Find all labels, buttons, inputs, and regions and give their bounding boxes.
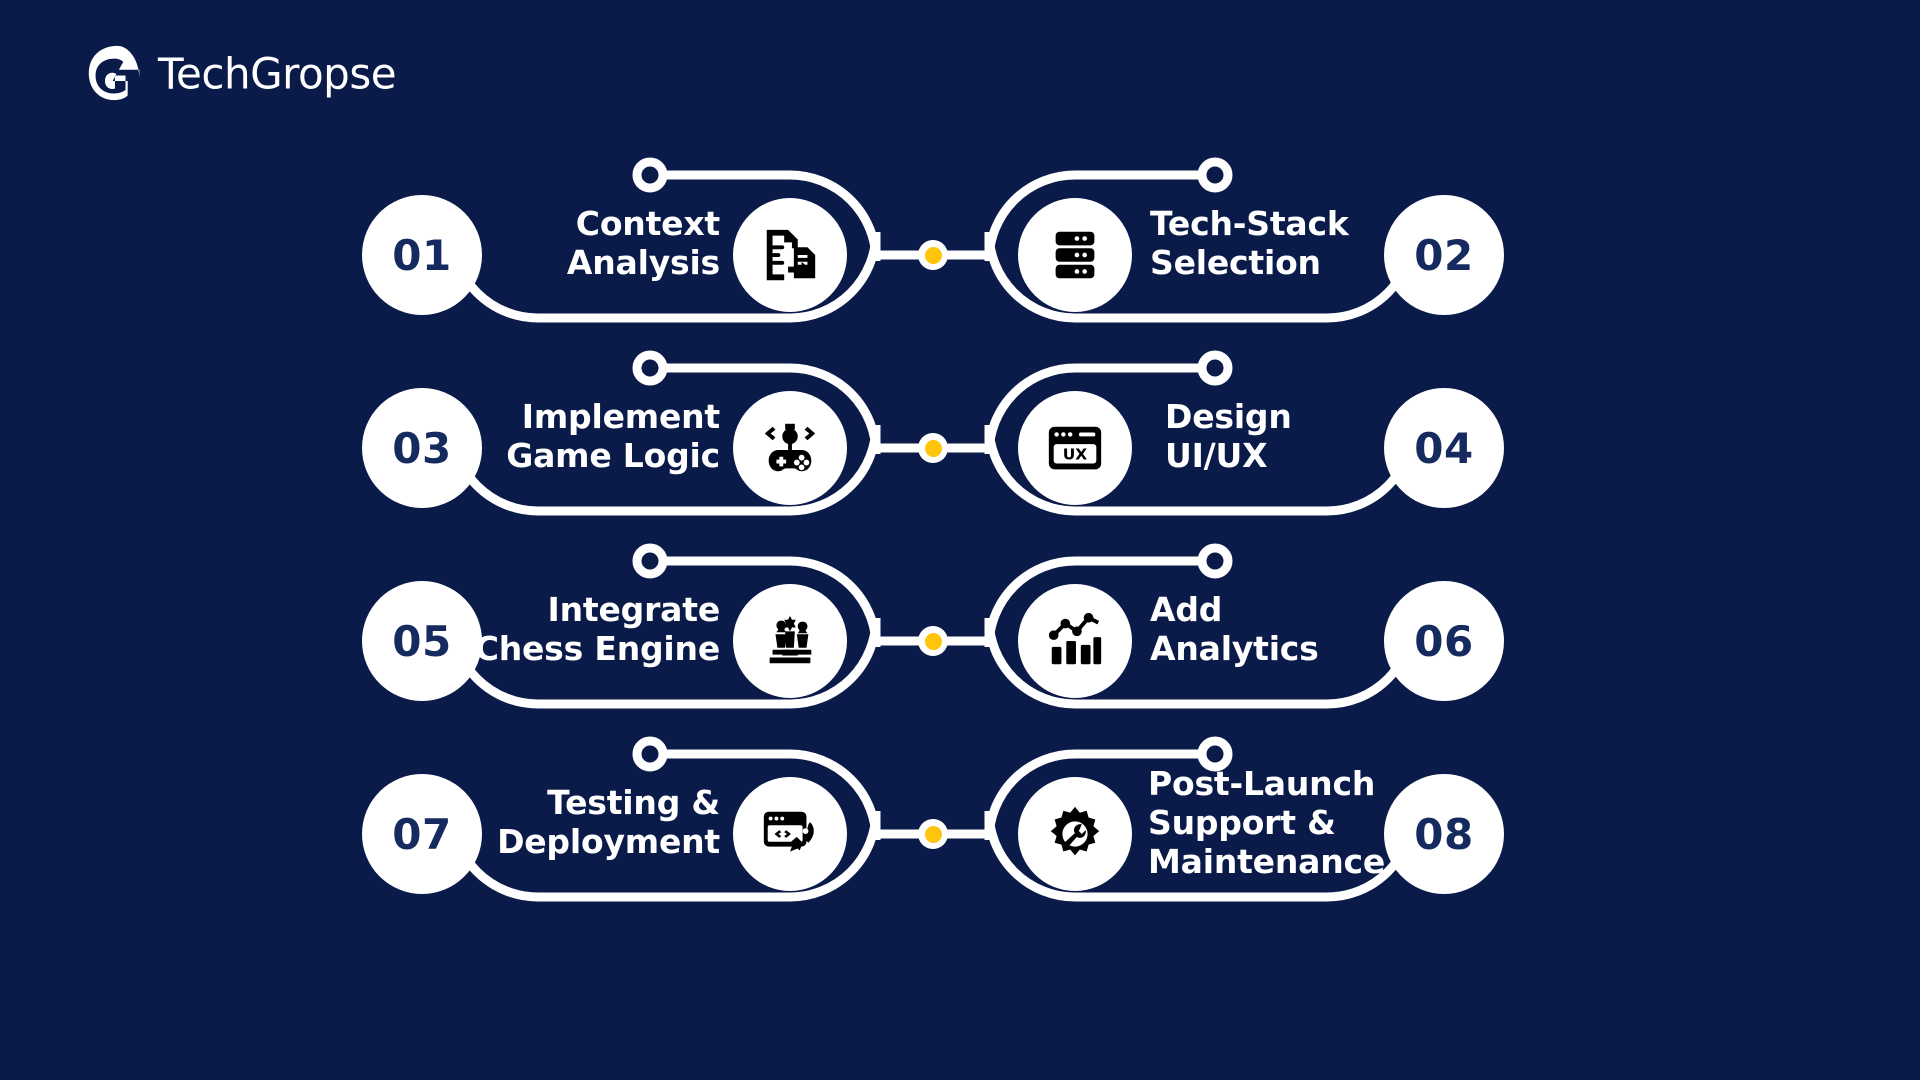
svg-text:UX: UX [1063,446,1088,464]
step-label-07: Testing & Deployment [485,784,720,862]
gear-wrench-icon[interactable] [1018,777,1132,891]
row-connector-dot-2 [918,433,948,463]
browser-ux-icon[interactable]: UX [1018,391,1132,505]
step-number-08[interactable]: 08 [1384,774,1504,894]
step-number-05[interactable]: 05 [362,581,482,701]
step-label-05: Integrate Chess Engine [472,591,720,669]
step-label-02: Tech-Stack Selection [1150,205,1380,283]
step-label-01: Context Analysis [510,205,720,283]
connector-lines [0,0,1920,1080]
step-number-06[interactable]: 06 [1384,581,1504,701]
step-number-01[interactable]: 01 [362,195,482,315]
row-connector-dot-3 [918,626,948,656]
gamepad-code-icon[interactable] [733,391,847,505]
row-connector-dot-1 [918,240,948,270]
server-stack-icon[interactable] [1018,198,1132,312]
step-number-07[interactable]: 07 [362,774,482,894]
step-number-03[interactable]: 03 [362,388,482,508]
step-label-03: Implement Game Logic [485,398,720,476]
step-label-04: Design UI/UX [1165,398,1380,476]
step-number-04[interactable]: 04 [1384,388,1504,508]
bar-chart-analytics-icon[interactable] [1018,584,1132,698]
browser-rocket-icon[interactable] [733,777,847,891]
step-label-06: Add Analytics [1150,591,1380,669]
step-label-08: Post-Launch Support & Maintenance [1148,765,1383,882]
process-diagram: 01 Context Analysis Tech-Stack Selection… [0,0,1920,1080]
document-analysis-icon[interactable] [733,198,847,312]
chess-pieces-icon[interactable] [733,584,847,698]
row-connector-dot-4 [918,819,948,849]
step-number-02[interactable]: 02 [1384,195,1504,315]
